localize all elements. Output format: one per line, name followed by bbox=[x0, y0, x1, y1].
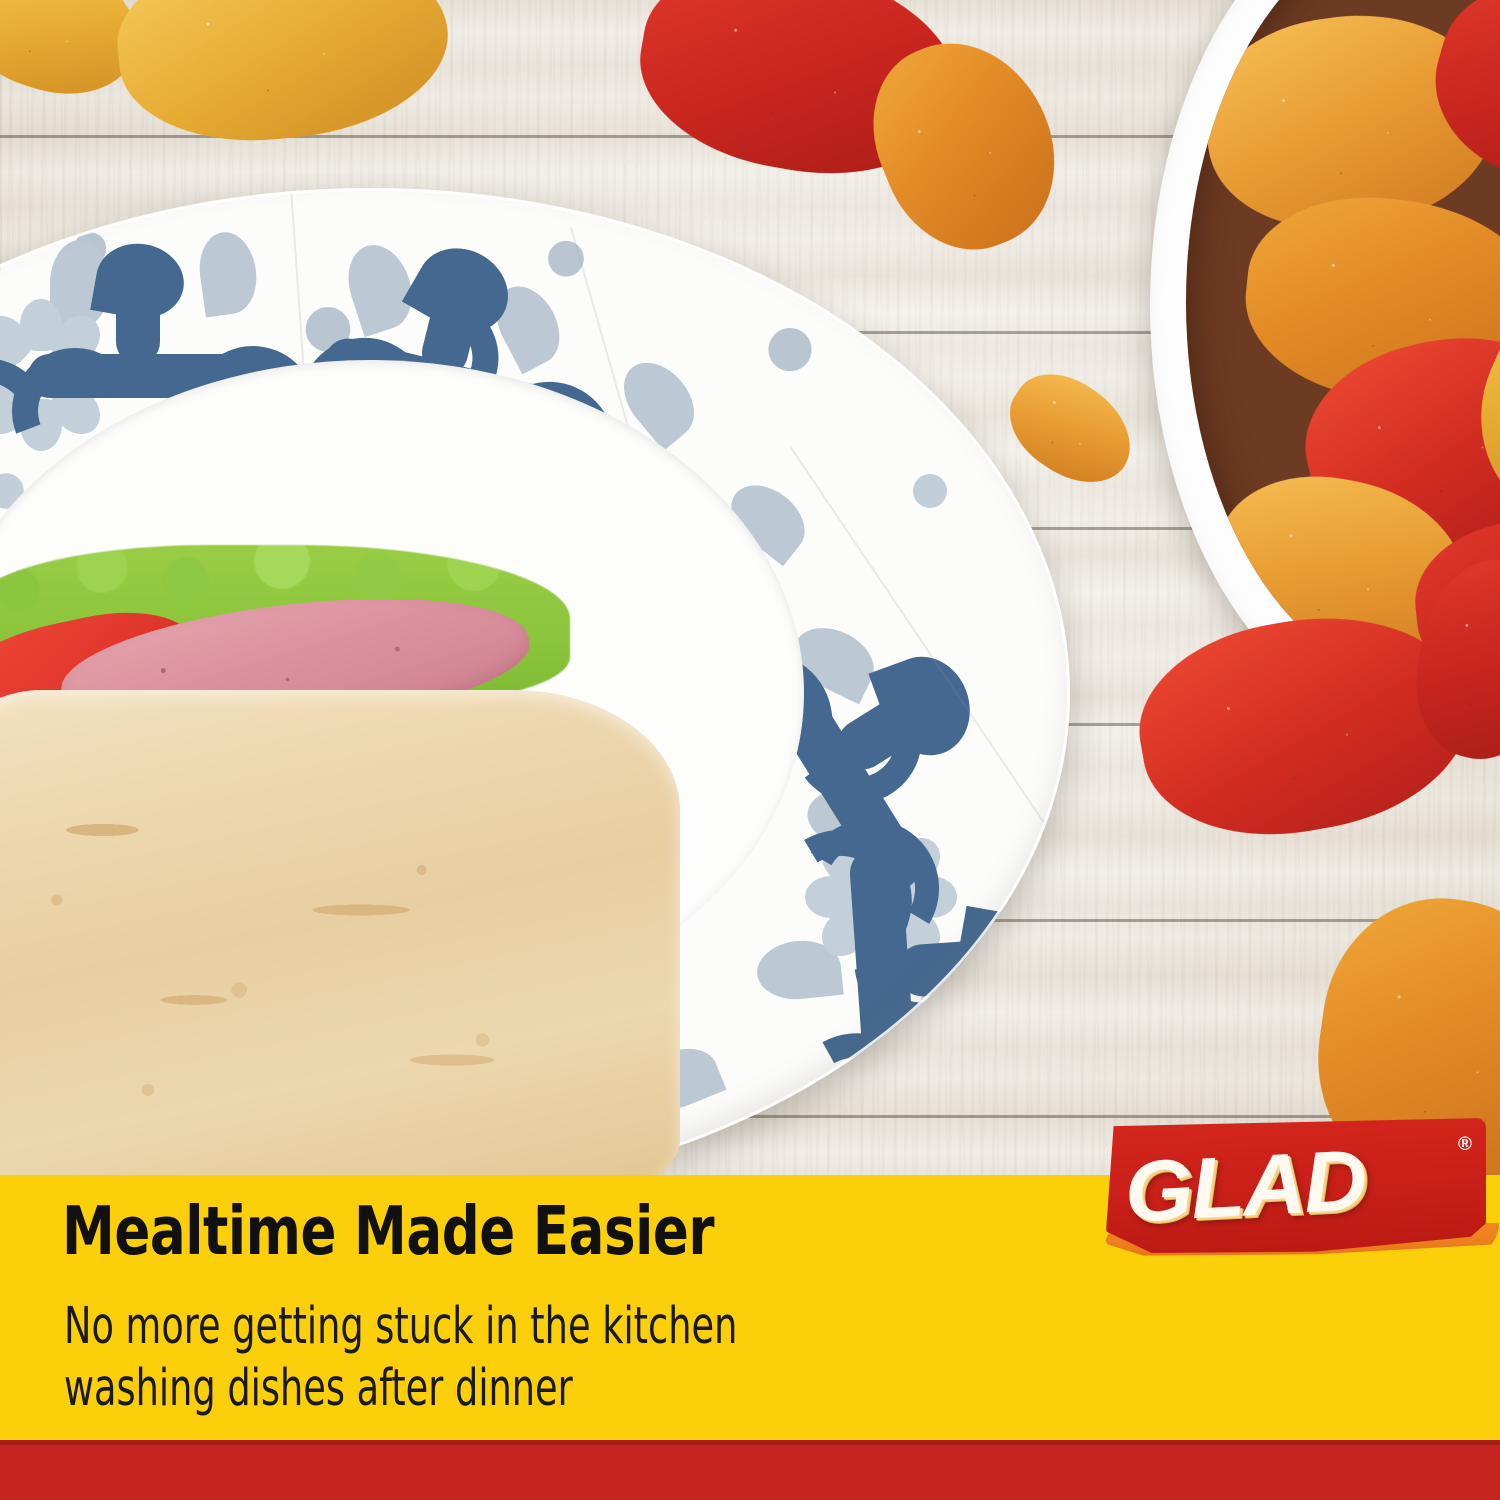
headline-text: Mealtime Made Easier bbox=[62, 1198, 714, 1265]
logo-wordmark: GLAD bbox=[1122, 1125, 1463, 1242]
plate-blue-scroll-motif bbox=[739, 808, 1062, 1168]
subheadline-text: No more getting stuck in the kitchen was… bbox=[64, 1296, 737, 1420]
red-footer-band bbox=[0, 1440, 1500, 1500]
registered-trademark-icon: ® bbox=[1458, 1134, 1472, 1156]
product-ad-image: Mealtime Made Easier No more getting stu… bbox=[0, 0, 1500, 1500]
toasted-sandwich bbox=[0, 690, 680, 1190]
glad-brand-logo: GLAD ® bbox=[1106, 1118, 1486, 1253]
